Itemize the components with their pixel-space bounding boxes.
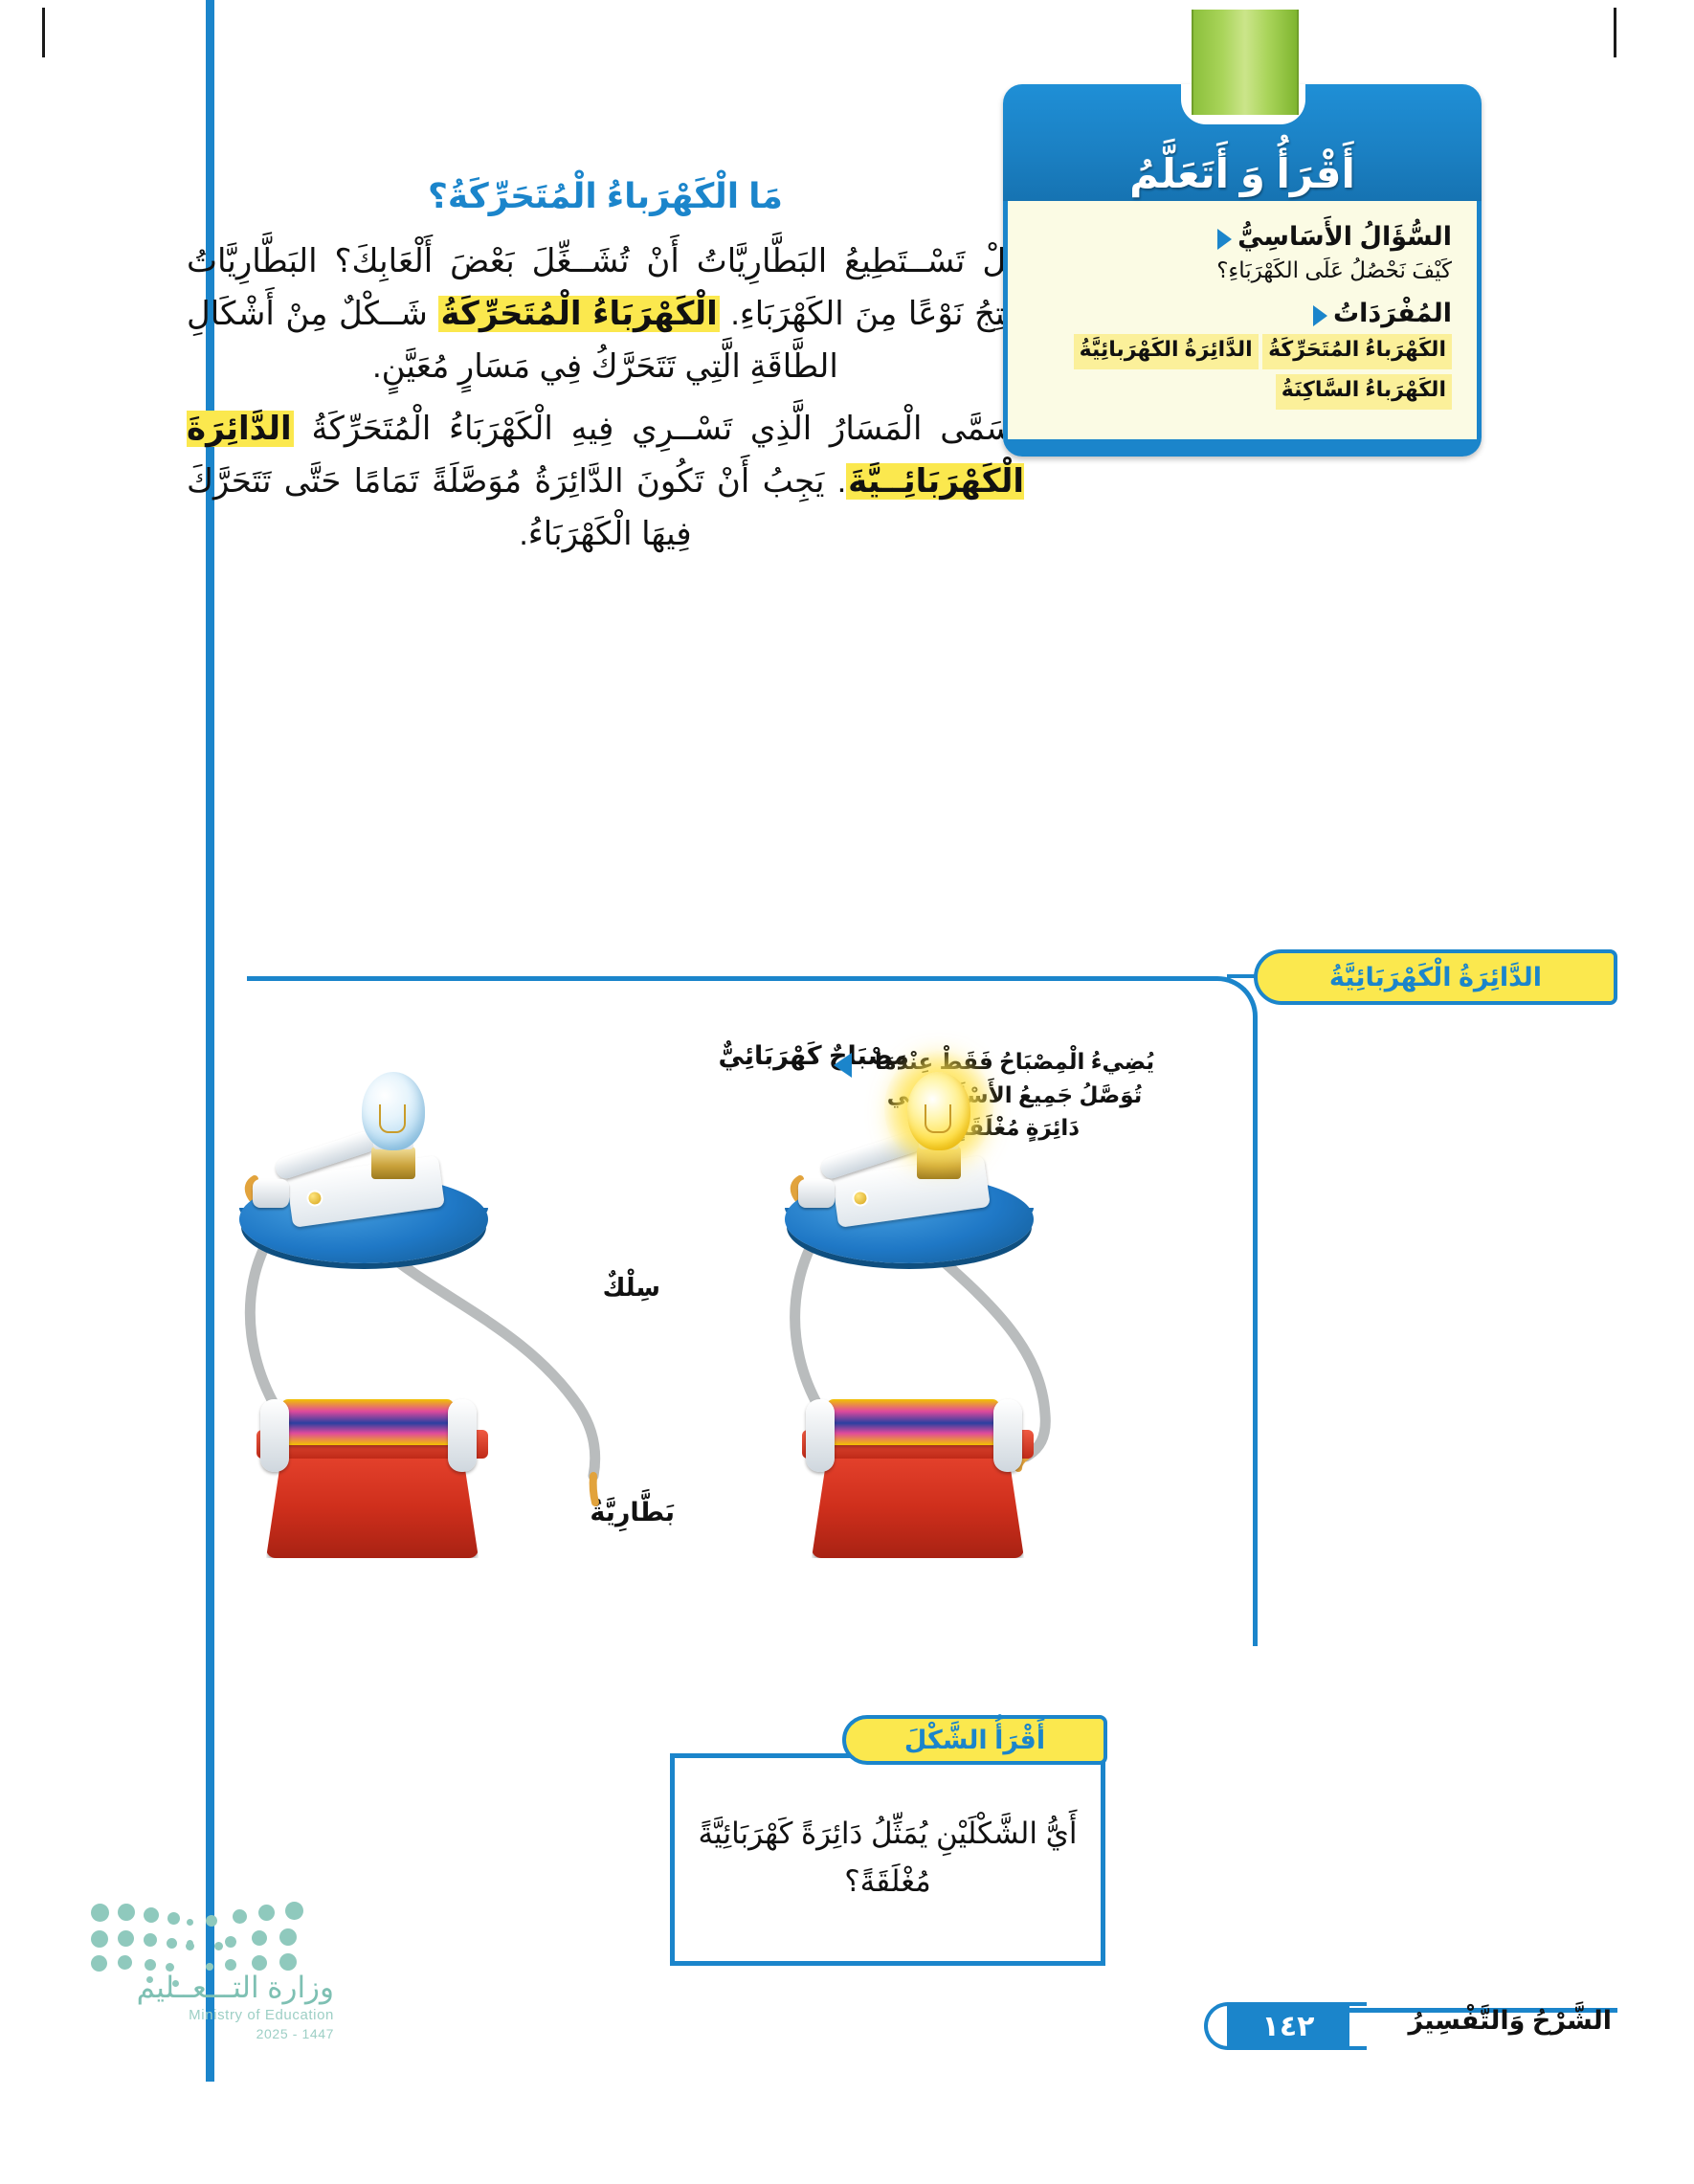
logo-dots-pattern (91, 1900, 311, 1969)
battery-clip-left (260, 1399, 289, 1472)
filament-icon (925, 1104, 951, 1133)
main-text-column: مَا الْكَهْرَباءُ الْمُتَحَرِّكَةُ؟ هَلْ… (187, 170, 1024, 561)
vocabulary-item: الكَهْرَباءُ المُتَحَرِّكَةُ (1265, 334, 1449, 365)
vocabulary-heading: المُفْرَدَاتُ (1033, 299, 1452, 328)
page-number: ١٤٢ (1227, 2002, 1349, 2050)
vocabulary-item-row: الدَّائِرَةُ الكَهْرَبائِيَّةُ (1074, 334, 1259, 369)
vocabulary-list: الكَهْرَباءُ المُتَحَرِّكَةُ الدَّائِرَة… (1033, 334, 1452, 414)
terminal-clip (253, 1179, 289, 1208)
crop-mark-top-right (1614, 8, 1616, 57)
vocabulary-item-row: الكَهْرَباءُ السَّاكِنَةُ (1276, 374, 1452, 410)
battery-clip-left (806, 1399, 835, 1472)
battery-holder (812, 1445, 1024, 1558)
paragraph-two: يُسَمَّى الْمَسَارُ الَّذِي تَسْــرِي فِ… (187, 403, 1024, 561)
read-figure-tab: أَقْرَأُ الشَّكْلَ (842, 1715, 1107, 1765)
battery-holder (266, 1445, 479, 1558)
triangle-bullet-icon (1313, 305, 1327, 326)
lamp-bulb-unlit (362, 1072, 425, 1150)
paragraph-two-text-b: . يَجِبُ أَنْ تَكُونَ الدَّائِرَةُ مُوَص… (187, 463, 846, 552)
battery-cell (281, 1399, 454, 1445)
footer-section-label: الشَّرْحُ وَالتَّفْسِيرُ (1357, 2006, 1617, 2036)
battery-clip-right (993, 1399, 1022, 1472)
crop-mark-top-left (42, 8, 45, 57)
textbook-page: مَا الْكَهْرَباءُ الْمُتَحَرِّكَةُ؟ هَلْ… (0, 0, 1694, 2184)
battery-clip-right (448, 1399, 477, 1472)
essential-question-heading: السُّؤَالُ الأَسَاسِيُّ (1033, 222, 1452, 252)
figure-banner-connector (1227, 974, 1258, 978)
read-figure-box: أَيُّ الشَّكْلَيْنِ يُمَثِّلُ دَائِرَةً … (670, 1753, 1105, 1966)
screw-icon (305, 1189, 323, 1207)
logo-arabic-text: وزارة التـــعــليم (137, 1971, 334, 2005)
card-body: السُّؤَالُ الأَسَاسِيُّ كَيْفَ نَحْصُلُ … (1003, 201, 1482, 439)
paragraph-one: هَلْ تَسْــتَطِيعُ البَطَّارِيَّاتُ أَنْ… (187, 235, 1024, 393)
lamp-bulb-lit (907, 1072, 970, 1150)
triangle-bullet-icon (1217, 229, 1232, 250)
card-title: أَقْرَأُ وَ أَتَعَلَّمُ (1003, 150, 1482, 197)
page-title: مَا الْكَهْرَباءُ الْمُتَحَرِّكَةُ؟ (187, 170, 1024, 222)
logo-english-text: Ministry of Education (189, 2007, 334, 2023)
vocabulary-label: المُفْرَدَاتُ (1333, 299, 1452, 328)
vocabulary-item: الكَهْرَباءُ السَّاكِنَةُ (1279, 374, 1449, 405)
bulb-socket (917, 1147, 961, 1179)
paragraph-two-text-a: يُسَمَّى الْمَسَارُ الَّذِي تَسْــرِي فِ… (294, 411, 1024, 447)
battery-cell (827, 1399, 999, 1445)
card-footer-bar (1003, 439, 1482, 457)
vocabulary-item-row: الكَهْرَباءُ المُتَحَرِّكَةُ (1262, 334, 1452, 369)
essential-question-text: كَيْفَ نَحْصُلُ عَلَى الكَهْرَبَاءِ؟ (1033, 256, 1452, 285)
card-panel: أَقْرَأُ وَ أَتَعَلَّمُ السُّؤَالُ الأَس… (1003, 84, 1482, 457)
ministry-logo: وزارة التـــعــليم Ministry of Education… (91, 1900, 340, 2043)
page-footer: ١٤٢ الشَّرْحُ وَالتَّفْسِيرُ (1204, 2002, 1617, 2056)
vocab-highlight-moving-electricity: الْكَهْرَبَاءُ الْمُتَحَرِّكَةُ (438, 296, 719, 332)
green-ribbon-top (1192, 10, 1299, 115)
read-figure-question: أَيُّ الشَّكْلَيْنِ يُمَثِّلُ دَائِرَةً … (696, 1810, 1080, 1905)
essential-question-label: السُّؤَالُ الأَسَاسِيُّ (1237, 222, 1452, 252)
vocabulary-item: الدَّائِرَةُ الكَهْرَبائِيَّةُ (1077, 334, 1256, 365)
screw-icon (851, 1189, 869, 1207)
circuit-figure: مِصْبَاحٌ كَهْرَبَائِيٌّ سِلْكٌ بَطَّارِ… (239, 986, 1617, 1790)
circuit-open-apparatus (239, 1062, 651, 1598)
circuit-closed-apparatus (785, 1062, 1196, 1598)
filament-icon (379, 1104, 406, 1133)
bulb-socket (371, 1147, 415, 1179)
terminal-clip (798, 1179, 835, 1208)
logo-year-text: 2025 - 1447 (256, 2026, 334, 2041)
